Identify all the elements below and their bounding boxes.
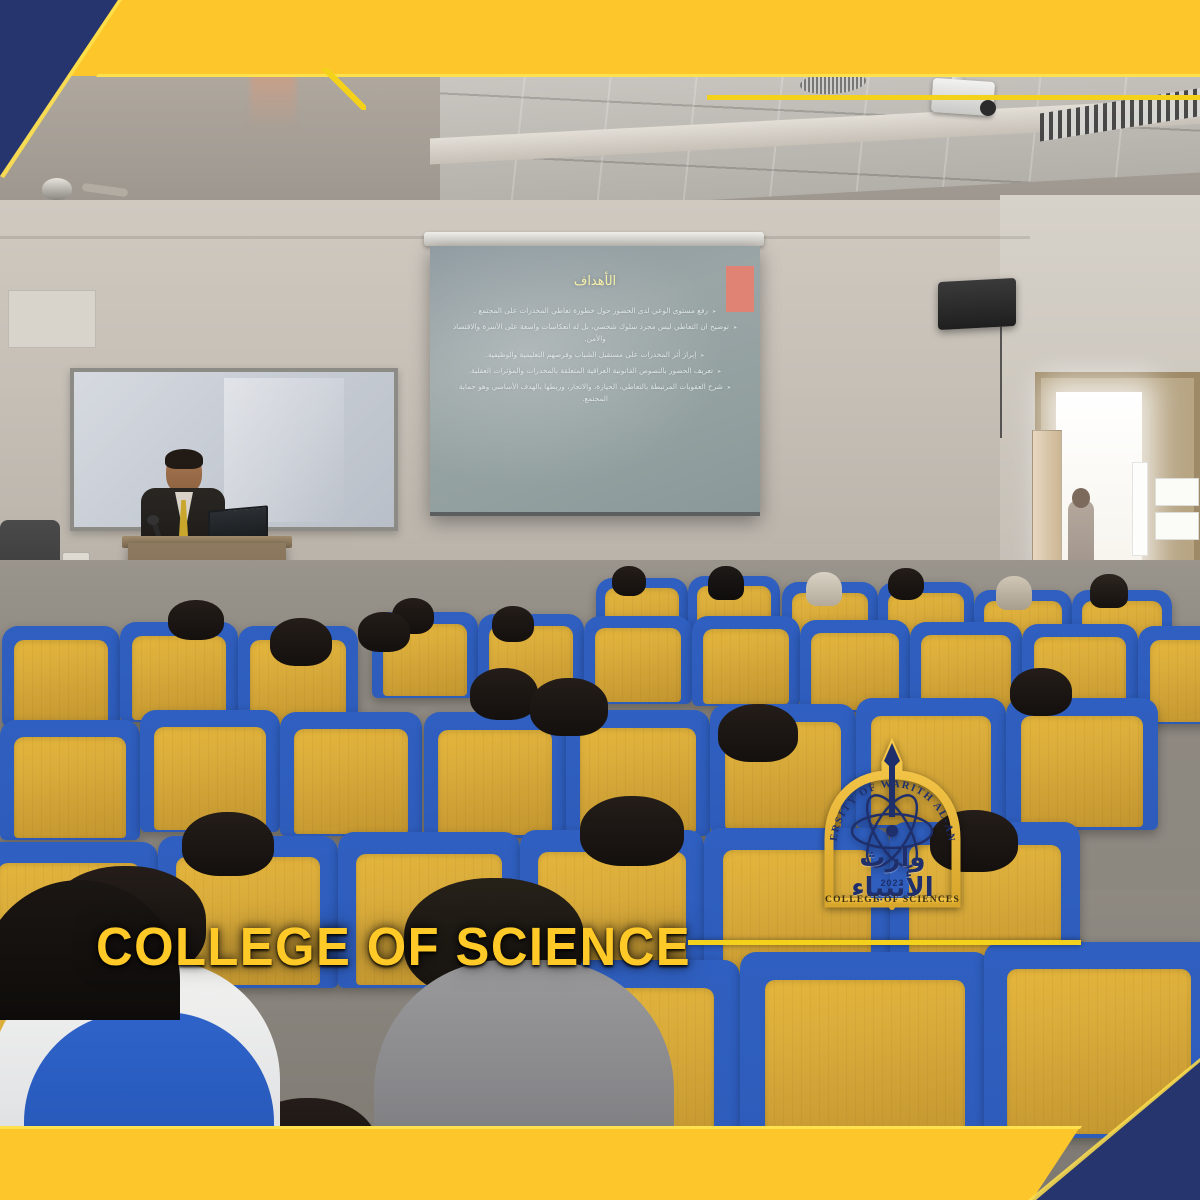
wall-speaker xyxy=(938,278,1016,330)
slide-bullet-list: رفع مستوى الوعي لدى الحضور حول خطورة تعا… xyxy=(448,305,742,405)
screen-case xyxy=(424,232,764,246)
wall-notice xyxy=(1155,512,1199,540)
audience-head xyxy=(1090,574,1128,608)
audience-head xyxy=(718,704,798,762)
audience-shoulders xyxy=(374,960,674,1200)
projection-screen: الأهداف رفع مستوى الوعي لدى الحضور حول خ… xyxy=(430,246,760,516)
audience-head xyxy=(580,796,684,866)
presenter-hair xyxy=(165,449,203,469)
whiteboard-glare xyxy=(224,378,344,522)
title-block: COLLEGE OF SCIENCE xyxy=(96,916,729,978)
audience-head xyxy=(1010,668,1072,716)
corridor-person-head xyxy=(1072,488,1090,508)
wall-notice xyxy=(1155,478,1199,506)
logo-caption: COLLEGE OF SCIENCES xyxy=(815,895,970,905)
slide-content: الأهداف رفع مستوى الوعي لدى الحضور حول خ… xyxy=(438,252,752,506)
ceiling-cable xyxy=(82,183,129,197)
dome-camera-icon xyxy=(42,178,72,200)
page-title: COLLEGE OF SCIENCE xyxy=(96,916,691,978)
microphone-icon xyxy=(147,515,159,525)
seat xyxy=(984,942,1200,1138)
audience-head xyxy=(708,566,744,600)
poster: الأهداف رفع مستوى الوعي لدى الحضور حول خ… xyxy=(0,0,1200,1200)
slide-bullet: تعريف الحضور بالنصوص القانونية العراقية … xyxy=(448,365,742,377)
seat xyxy=(740,952,990,1150)
audience-head xyxy=(470,668,538,720)
seat xyxy=(0,720,140,840)
seat xyxy=(280,712,422,836)
seat xyxy=(692,616,800,706)
event-photograph: الأهداف رفع مستوى الوعي لدى الحضور حول خ… xyxy=(0,0,1200,1200)
logo-year: 2023 xyxy=(815,878,970,888)
logo-arabic-name: وارث الأنبياء xyxy=(815,843,970,903)
audience-head xyxy=(806,572,842,606)
wall-notice-strip xyxy=(1132,462,1148,556)
slide-bullet: شرح العقوبات المرتبطة بالتعاطي، الحيازة،… xyxy=(448,381,742,405)
ceiling xyxy=(0,0,1200,215)
whiteboard-reflection xyxy=(250,60,296,130)
slide-title: الأهداف xyxy=(438,274,752,289)
seat xyxy=(2,626,120,726)
slide-bullet: توضيح ان التعاطي ليس مجرد سلوك شخصي، بل … xyxy=(448,321,742,345)
audience-shoulders xyxy=(24,1012,274,1200)
audience-head xyxy=(530,678,608,736)
speaker-cable xyxy=(1000,326,1002,438)
seat xyxy=(1006,698,1158,830)
audience-head xyxy=(270,618,332,666)
university-logo: UNIVERSITY OF WARITH AL-ANBIYA وارث الأن… xyxy=(815,735,970,925)
audience-head xyxy=(492,606,534,642)
audience-head xyxy=(168,600,224,640)
audience-seating xyxy=(0,560,1200,1200)
audience-head xyxy=(996,576,1032,610)
slide-bullet: رفع مستوى الوعي لدى الحضور حول خطورة تعا… xyxy=(448,305,742,317)
audience-head xyxy=(358,612,410,652)
audience-head xyxy=(888,568,924,600)
audience-head xyxy=(182,812,274,876)
wall-patch xyxy=(8,290,96,348)
audience-head xyxy=(612,566,646,596)
whiteboard xyxy=(70,368,398,531)
projector-lens-icon xyxy=(980,100,996,116)
title-rule xyxy=(688,940,1081,945)
slide-bullet: إبراز أثر المخدرات على مستقبل الشباب وفر… xyxy=(448,349,742,361)
